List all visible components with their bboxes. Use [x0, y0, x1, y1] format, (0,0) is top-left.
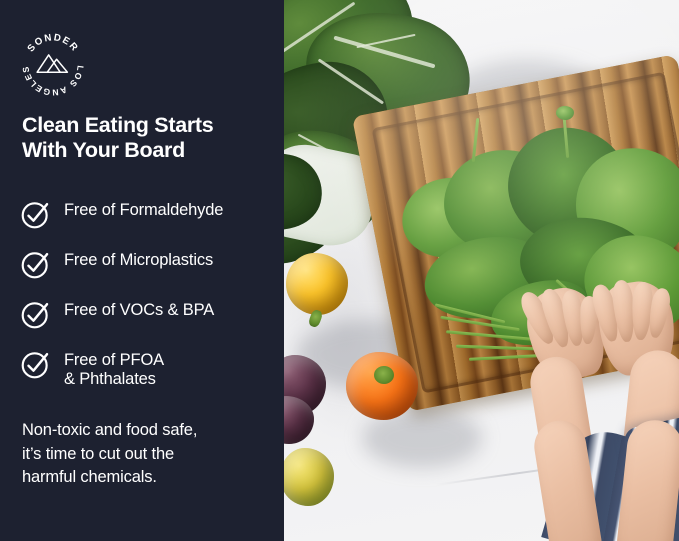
list-item-label: Free of Formaldehyde [64, 197, 223, 220]
list-item: Free of Formaldehyde [19, 197, 281, 231]
list-item-line-1: Free of PFOA [64, 351, 164, 370]
page-title: Clean Eating Starts With Your Board [22, 113, 272, 162]
svg-text:SONDER: SONDER [26, 32, 81, 54]
list-item-label: Free of PFOA & Phthalates [64, 347, 164, 389]
supporting-copy: Non-toxic and food safe, it’s time to cu… [22, 419, 272, 490]
circled-checkmark-icon [19, 298, 52, 331]
supporting-copy-line-3: harmful chemicals. [22, 466, 272, 490]
yellow-bell-pepper [286, 253, 348, 315]
headline-line-2: With Your Board [22, 138, 272, 163]
supporting-copy-line-1: Non-toxic and food safe, [22, 419, 272, 443]
lifestyle-photo [284, 0, 679, 541]
circled-checkmark-icon [19, 198, 52, 231]
list-item-line-1: Free of Microplastics [64, 251, 213, 270]
list-item: Free of PFOA & Phthalates [19, 347, 281, 389]
list-item-line-1: Free of VOCs & BPA [64, 301, 214, 320]
supporting-copy-line-2: it’s time to cut out the [22, 443, 272, 467]
circled-checkmark-icon [19, 348, 52, 381]
sonder-los-angeles-mountain-logo: SONDER LOS ANGELES [17, 29, 89, 101]
list-item: Free of Microplastics [19, 247, 281, 281]
list-item: Free of VOCs & BPA [19, 297, 281, 331]
circled-checkmark-icon [19, 248, 52, 281]
herb-sprig-top [556, 106, 574, 120]
list-item-line-2: & Phthalates [64, 370, 164, 389]
orange-bell-pepper [346, 352, 418, 420]
list-item-label: Free of VOCs & BPA [64, 297, 214, 320]
list-item-line-1: Free of Formaldehyde [64, 201, 223, 220]
list-item-label: Free of Microplastics [64, 247, 213, 270]
benefits-checklist: Free of Formaldehyde Free of Microplasti… [19, 197, 281, 405]
product-feature-graphic: SONDER LOS ANGELES Clean Eating Starts W… [0, 0, 679, 541]
pepper-stem [374, 366, 394, 384]
headline-line-1: Clean Eating Starts [22, 113, 272, 138]
svg-text:LOS ANGELES: LOS ANGELES [20, 65, 85, 98]
left-info-panel: SONDER LOS ANGELES Clean Eating Starts W… [0, 0, 284, 541]
